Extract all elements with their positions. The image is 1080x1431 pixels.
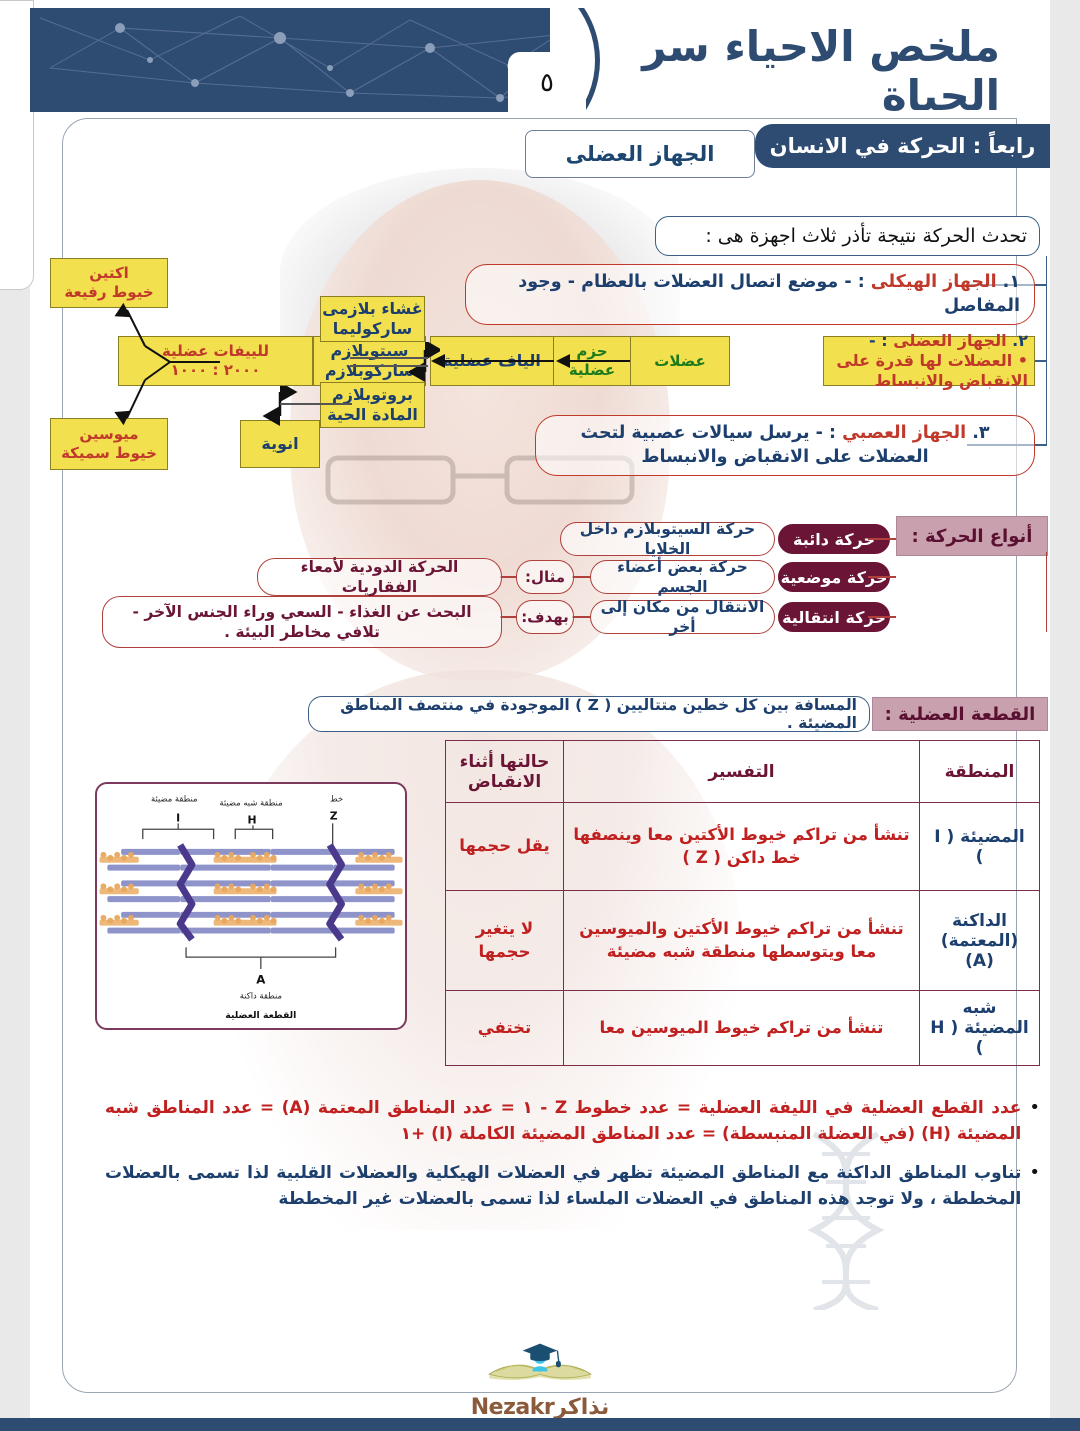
cell-state-I: يقل حجمها [446, 803, 564, 891]
device2-number: ٢. [1012, 331, 1028, 350]
subsection-title-box: الجهاز العضلى [525, 130, 755, 178]
page-number-tab: ٥ [508, 52, 586, 112]
movement-bracket-vertical [1046, 552, 1048, 632]
device1-colon: : [852, 272, 865, 292]
chain-sarcolemma-label-1: غشاء بلازمى [322, 299, 422, 319]
cytoplasm-double-arrow-1 [310, 342, 440, 382]
fig-letter-A: A [256, 973, 266, 987]
device-muscular-box: ٢. الجهاز العضلى : - • العضلات لها قدرة … [823, 336, 1035, 386]
header-banner: ملخص الاحياء سر الحياة ٥ [30, 8, 1020, 112]
movement-detail-3: البحث عن الغذاء - السعي وراء الجنس الآخر… [102, 596, 502, 648]
note-item: • تناوب المناطق الداكنة مع المناطق المضي… [105, 1160, 1040, 1213]
movement-conn-3b [572, 616, 590, 618]
fig-label-light: منطقة مضيئة [151, 794, 197, 804]
movement-conn-2c [500, 576, 516, 578]
table-header-row: المنطقة التفسير حالتها أثناء الانقباض [446, 741, 1040, 803]
fig-label-line: خط [330, 794, 343, 804]
cell-region-I: المضيئة ( I ) [920, 803, 1040, 891]
movement-conn-2b [572, 576, 590, 578]
table-row: المضيئة ( I ) تنشأ من تراكم خيوط الأكتين… [446, 803, 1040, 891]
movement-definition-3: الانتقال من مكان إلى أخر [590, 600, 775, 634]
fig-bracket-I [143, 829, 214, 839]
note-item: • عدد القطع العضلية في الليفة العضلية = … [105, 1095, 1040, 1148]
device-skeletal-box: ١. الجهاز الهيكلى : - موضع اتصال العضلات… [465, 264, 1035, 325]
cytoplasm-double-arrow-2 [240, 386, 360, 426]
th-region: المنطقة [920, 741, 1040, 803]
device3-colon: : - [816, 423, 836, 443]
decorative-left-card [0, 0, 34, 290]
actin-myosin-branch-connector [95, 300, 225, 430]
movement-conn-3 [868, 616, 896, 618]
footer-logo: نذاكرNezakr [455, 1330, 625, 1422]
notes-section: • عدد القطع العضلية في الليفة العضلية = … [105, 1095, 1040, 1224]
cell-state-A: لا يتغير حجمها [446, 891, 564, 991]
movement-conn-2 [868, 576, 896, 578]
device2-name: الجهاز العضلى [893, 331, 1006, 350]
note-bullet: • [1029, 1095, 1040, 1148]
device3-name: الجهاز العصبي [842, 423, 966, 443]
footer-bar [0, 1418, 1080, 1431]
fig-caption: القطعة العضلية [225, 1010, 296, 1021]
note-text-1: عدد القطع العضلية في الليفة العضلية = عد… [105, 1095, 1021, 1148]
fig-letter-I: I [176, 811, 180, 824]
movement-tag-2: مثال: [516, 560, 574, 594]
fig-letter-H: H [247, 813, 256, 826]
table-row: شبه المضيئة ( H ) تنشأ من تراكم خيوط الم… [446, 991, 1040, 1066]
chain-myosin-sub: خيوط سميكة [61, 444, 157, 463]
cell-explanation-H: تنشأ من تراكم خيوط الميوسين معا [564, 991, 920, 1066]
graduation-book-logo-icon [481, 1330, 599, 1392]
fig-label-semi: منطقة شبه مضيئة [219, 798, 282, 808]
chain-nucleus-box: انوية [240, 420, 320, 468]
sarcomere-svg: منطقة مضيئة منطقة شبه مضيئة خط I H Z [97, 784, 405, 1028]
device2-heading: ٢. الجهاز العضلى : - [830, 331, 1028, 351]
sarcomere-regions-table: المنطقة التفسير حالتها أثناء الانقباض ال… [445, 740, 1040, 1066]
movement-types-label: أنواع الحركة : [896, 516, 1048, 556]
fig-bracket-H [235, 829, 272, 839]
chain-arrows [430, 352, 730, 370]
movement-tag-3: بهدف: [516, 600, 574, 634]
sarcomere-diagram: منطقة مضيئة منطقة شبه مضيئة خط I H Z [95, 782, 407, 1030]
th-explanation: التفسير [564, 741, 920, 803]
chain-sarcolemma-label-2: ساركوليما [333, 319, 413, 339]
logo-text: نذاكرNezakr [455, 1395, 625, 1420]
chain-actin-sub: خيوط رفيعة [64, 283, 153, 302]
movement-definition-1: حركة السيتوبلازم داخل الخلايا [560, 522, 775, 556]
movement-definition-2: حركة بعض أعضاء الجسم [590, 560, 775, 594]
device3-number: ٣. [972, 423, 989, 443]
chain-nucleus-label: انوية [261, 434, 298, 454]
device1-number: ١. [1003, 272, 1020, 292]
sarcomere-label: القطعة العضلية : [872, 697, 1048, 731]
cell-region-H: شبه المضيئة ( H ) [920, 991, 1040, 1066]
cell-explanation-A: تنشأ من تراكم خيوط الأكتين والميوسين معا… [564, 891, 920, 991]
fig-bracket-A [186, 947, 336, 957]
right-margin-strip [1050, 0, 1080, 1431]
cell-explanation-I: تنشأ من تراكم خيوط الأكتين معا وينصفها خ… [564, 803, 920, 891]
chain-actin-label: اكتين [89, 264, 129, 283]
sarcomere-definition-box: المسافة بين كل خطين متتاليين ( Z ) الموج… [308, 696, 870, 732]
fig-z-line-right [330, 845, 342, 939]
fig-label-dark: منطقة داكنة [240, 990, 282, 1000]
section-title-ribbon: رابعاً : الحركة في الانسان [755, 124, 1050, 168]
cell-state-H: تختفي [446, 991, 564, 1066]
intro-statement-box: تحدث الحركة نتيجة تأذر ثلاث اجهزة هى : [655, 216, 1040, 256]
cell-region-A: الداكنة (المعتمة) (A) [920, 891, 1040, 991]
chain-sarcolemma-box: غشاء بلازمى ساركوليما [320, 296, 425, 342]
device2-colon: : - [869, 331, 888, 350]
th-state: حالتها أثناء الانقباض [446, 741, 564, 803]
table-row: الداكنة (المعتمة) (A) تنشأ من تراكم خيوط… [446, 891, 1040, 991]
movement-conn-1 [868, 538, 896, 540]
device2-desc: • العضلات لها قدرة على الانقباض والانبسا… [830, 351, 1028, 391]
fig-letter-Z: Z [330, 809, 338, 822]
fig-z-line-left [180, 845, 192, 939]
movement-detail-2: الحركة الدودية لأمعاء الفقاريات [257, 558, 502, 596]
note-text-2: تناوب المناطق الداكنة مع المناطق المضيئة… [105, 1160, 1021, 1213]
page-title: ملخص الاحياء سر الحياة [570, 22, 1000, 112]
device1-name: الجهاز الهيكلى [871, 272, 997, 292]
note-bullet: • [1029, 1160, 1040, 1213]
movement-conn-3c [500, 616, 516, 618]
fig-filaments [99, 845, 402, 939]
device-nervous-box: ٣. الجهاز العصبي : - يرسل سيالات عصبية ل… [535, 415, 1035, 476]
